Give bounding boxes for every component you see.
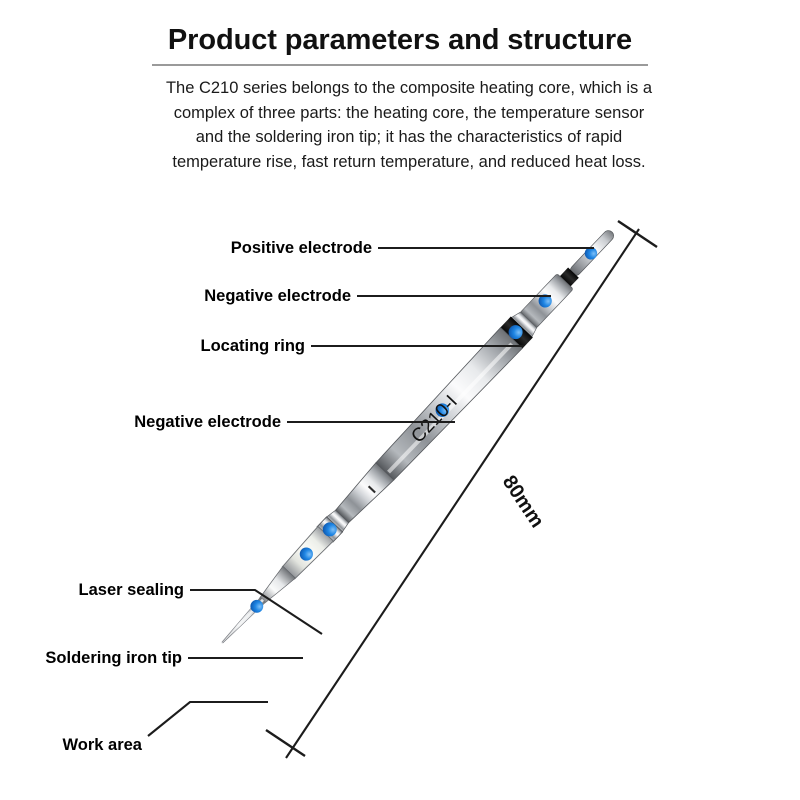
dimension-cap-top	[618, 221, 657, 247]
dimension-cap-bottom	[266, 730, 305, 756]
callout-label-work-area: Work area	[63, 736, 143, 754]
callout-label-laser-sealing: Laser sealing	[79, 581, 184, 599]
callout-label-locating-ring: Locating ring	[201, 337, 306, 355]
callout-label-negative-electrode-lower: Negative electrode	[134, 413, 281, 431]
product-diagram: C210-I 80mm	[0, 0, 800, 800]
leader-work-area	[148, 702, 268, 736]
callout-label-positive-electrode: Positive electrode	[231, 239, 372, 257]
dimension-line	[286, 229, 639, 758]
dimension-label: 80mm	[498, 472, 548, 532]
callout-label-soldering-iron-tip: Soldering iron tip	[45, 649, 182, 667]
callout-label-negative-electrode-upper: Negative electrode	[204, 287, 351, 305]
product-spec-page: Product parameters and structure The C21…	[0, 0, 800, 800]
barrel-taper	[333, 463, 394, 525]
